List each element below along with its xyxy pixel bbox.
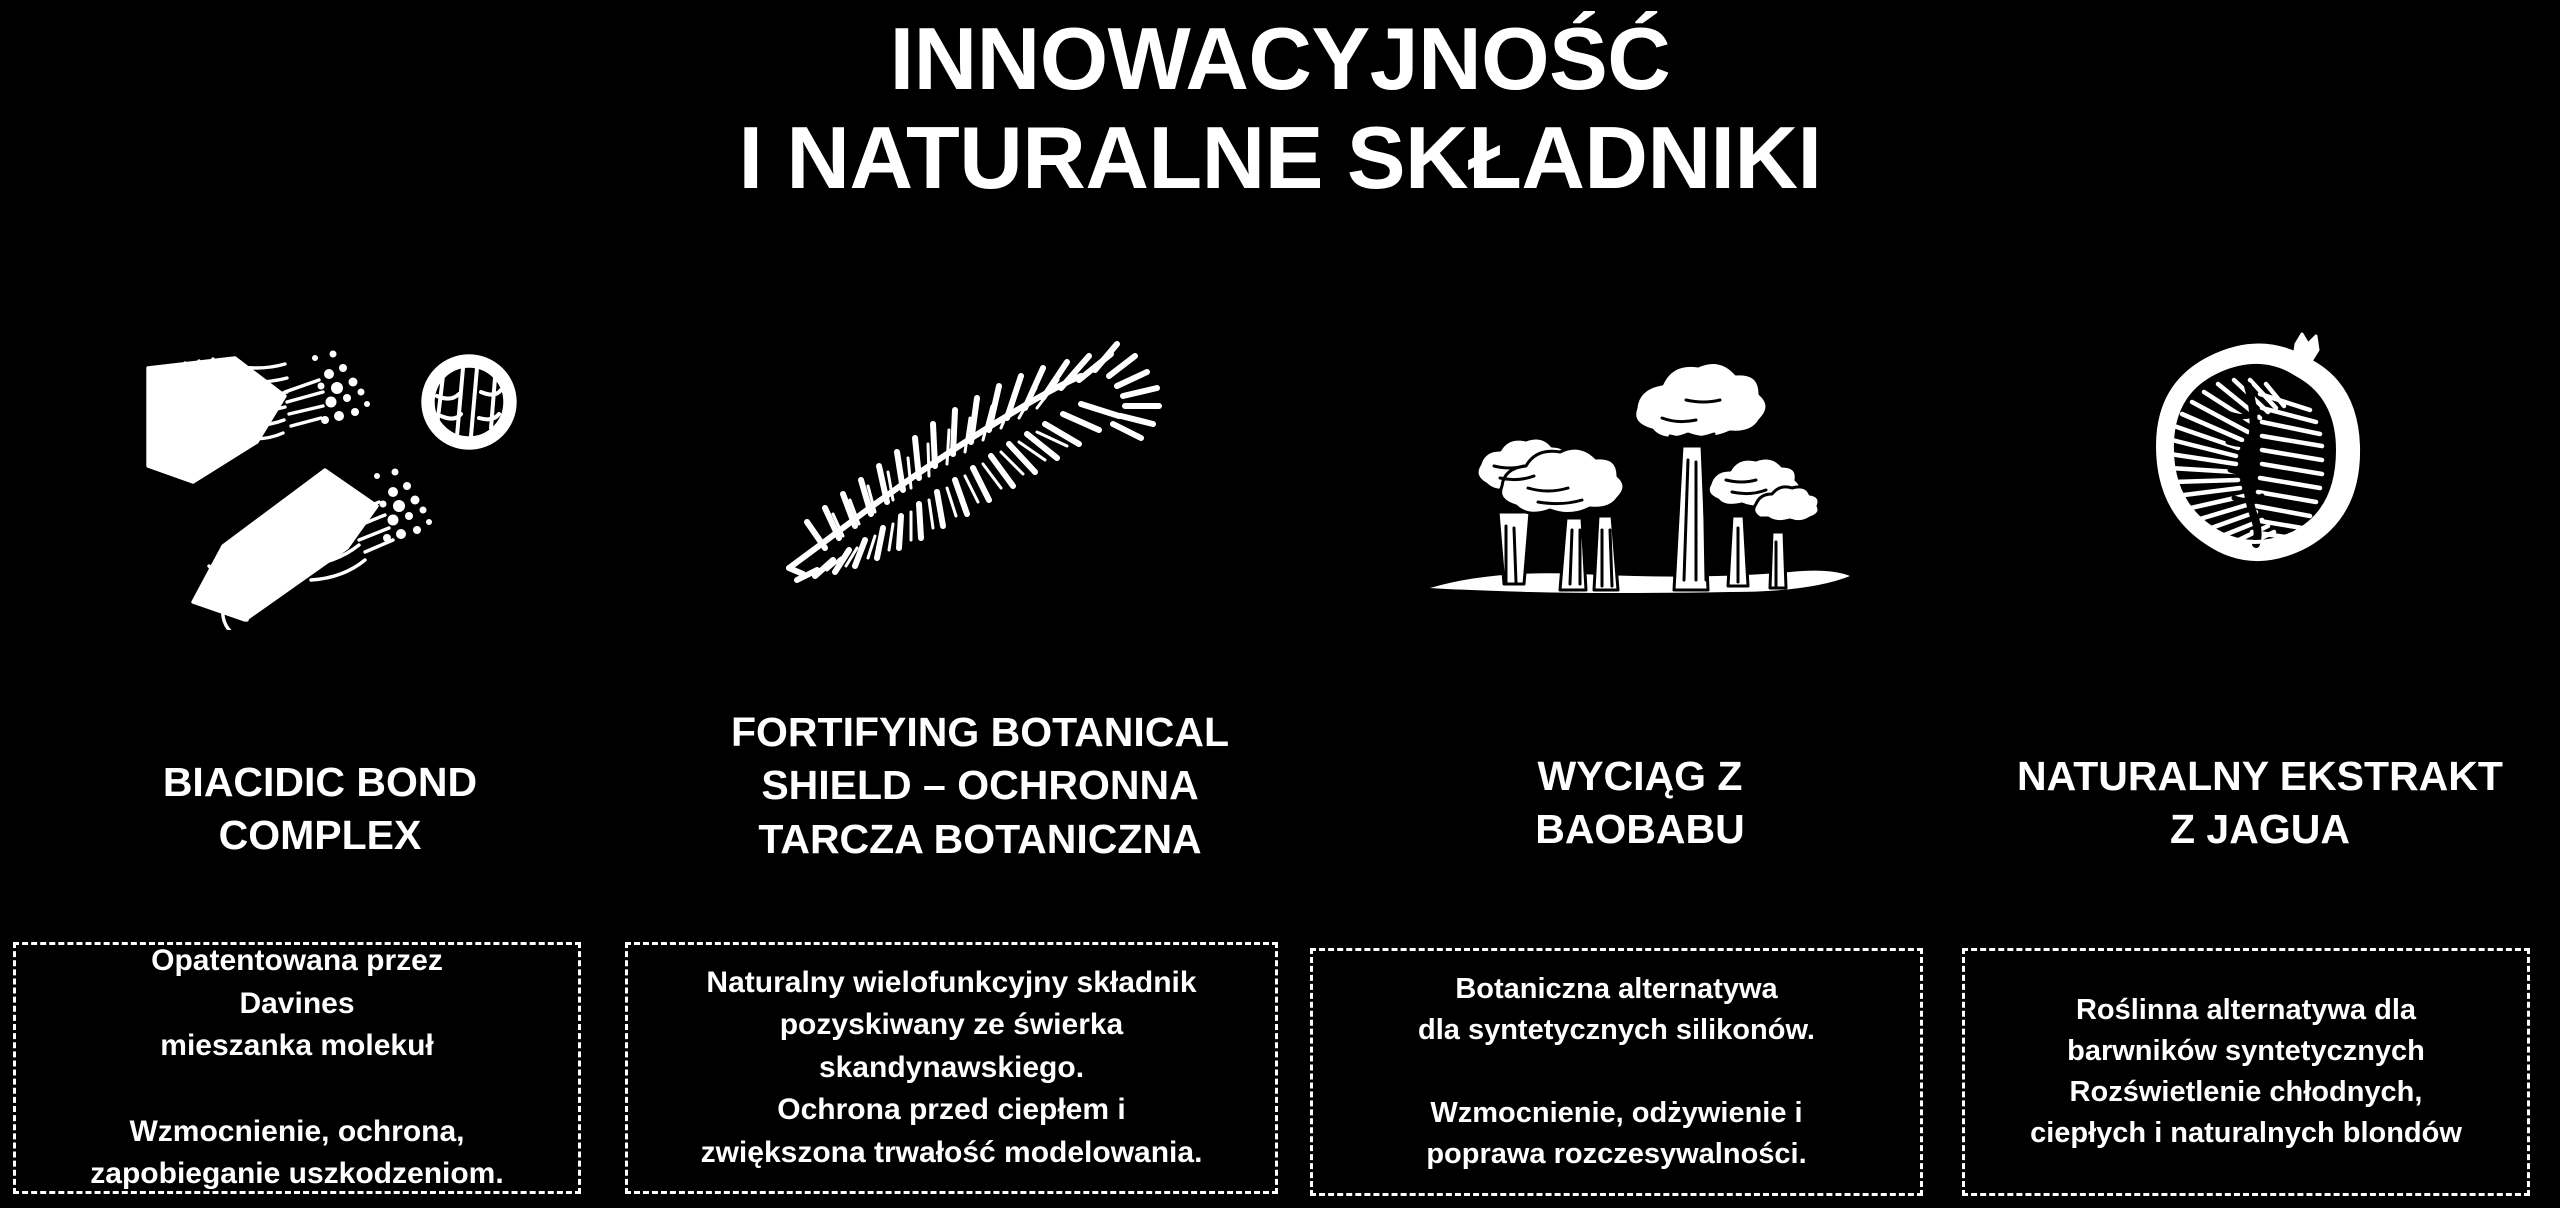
- ingredient-info-text: Opatentowana przez Davines mieszanka mol…: [90, 940, 503, 1196]
- ingredient-heading: BIACIDIC BOND COMPLEX: [157, 756, 483, 863]
- ingredient-info-box-biacidic-bond-complex: Opatentowana przez Davines mieszanka mol…: [13, 942, 581, 1194]
- page-title-line-1: INNOWACYJNOŚĆ: [0, 10, 2560, 109]
- ingredient-heading: FORTIFYING BOTANICAL SHIELD – OCHRONNA T…: [725, 706, 1235, 866]
- ingredient-info-box-jagua-extract: Roślinna alternatywa dla barwników synte…: [1962, 948, 2530, 1196]
- hair-fiber-strands-icon: [0, 330, 640, 630]
- ingredient-info-text: Naturalny wielofunkcyjny składnik pozysk…: [701, 962, 1203, 1175]
- spruce-branch-icon: [640, 330, 1320, 630]
- ingredient-heading: WYCIĄG Z BAOBABU: [1529, 750, 1751, 857]
- ingredient-info-text: Roślinna alternatywa dla barwników synte…: [2030, 990, 2462, 1155]
- jagua-fruit-icon: [1960, 330, 2560, 630]
- page-title-line-2: I NATURALNE SKŁADNIKI: [0, 109, 2560, 208]
- ingredient-info-box-fortifying-botanical-shield: Naturalny wielofunkcyjny składnik pozysk…: [625, 942, 1278, 1194]
- baobab-trees-icon: [1320, 330, 1960, 630]
- ingredient-info-text: Botaniczna alternatywa dla syntetycznych…: [1418, 969, 1815, 1175]
- page-title: INNOWACYJNOŚĆ I NATURALNE SKŁADNIKI: [0, 10, 2560, 207]
- poster-root: { "poster": { "background_color": "#0000…: [0, 0, 2560, 1208]
- ingredient-heading: NATURALNY EKSTRAKT Z JAGUA: [2011, 750, 2509, 857]
- ingredient-info-box-baobab-extract: Botaniczna alternatywa dla syntetycznych…: [1310, 948, 1923, 1196]
